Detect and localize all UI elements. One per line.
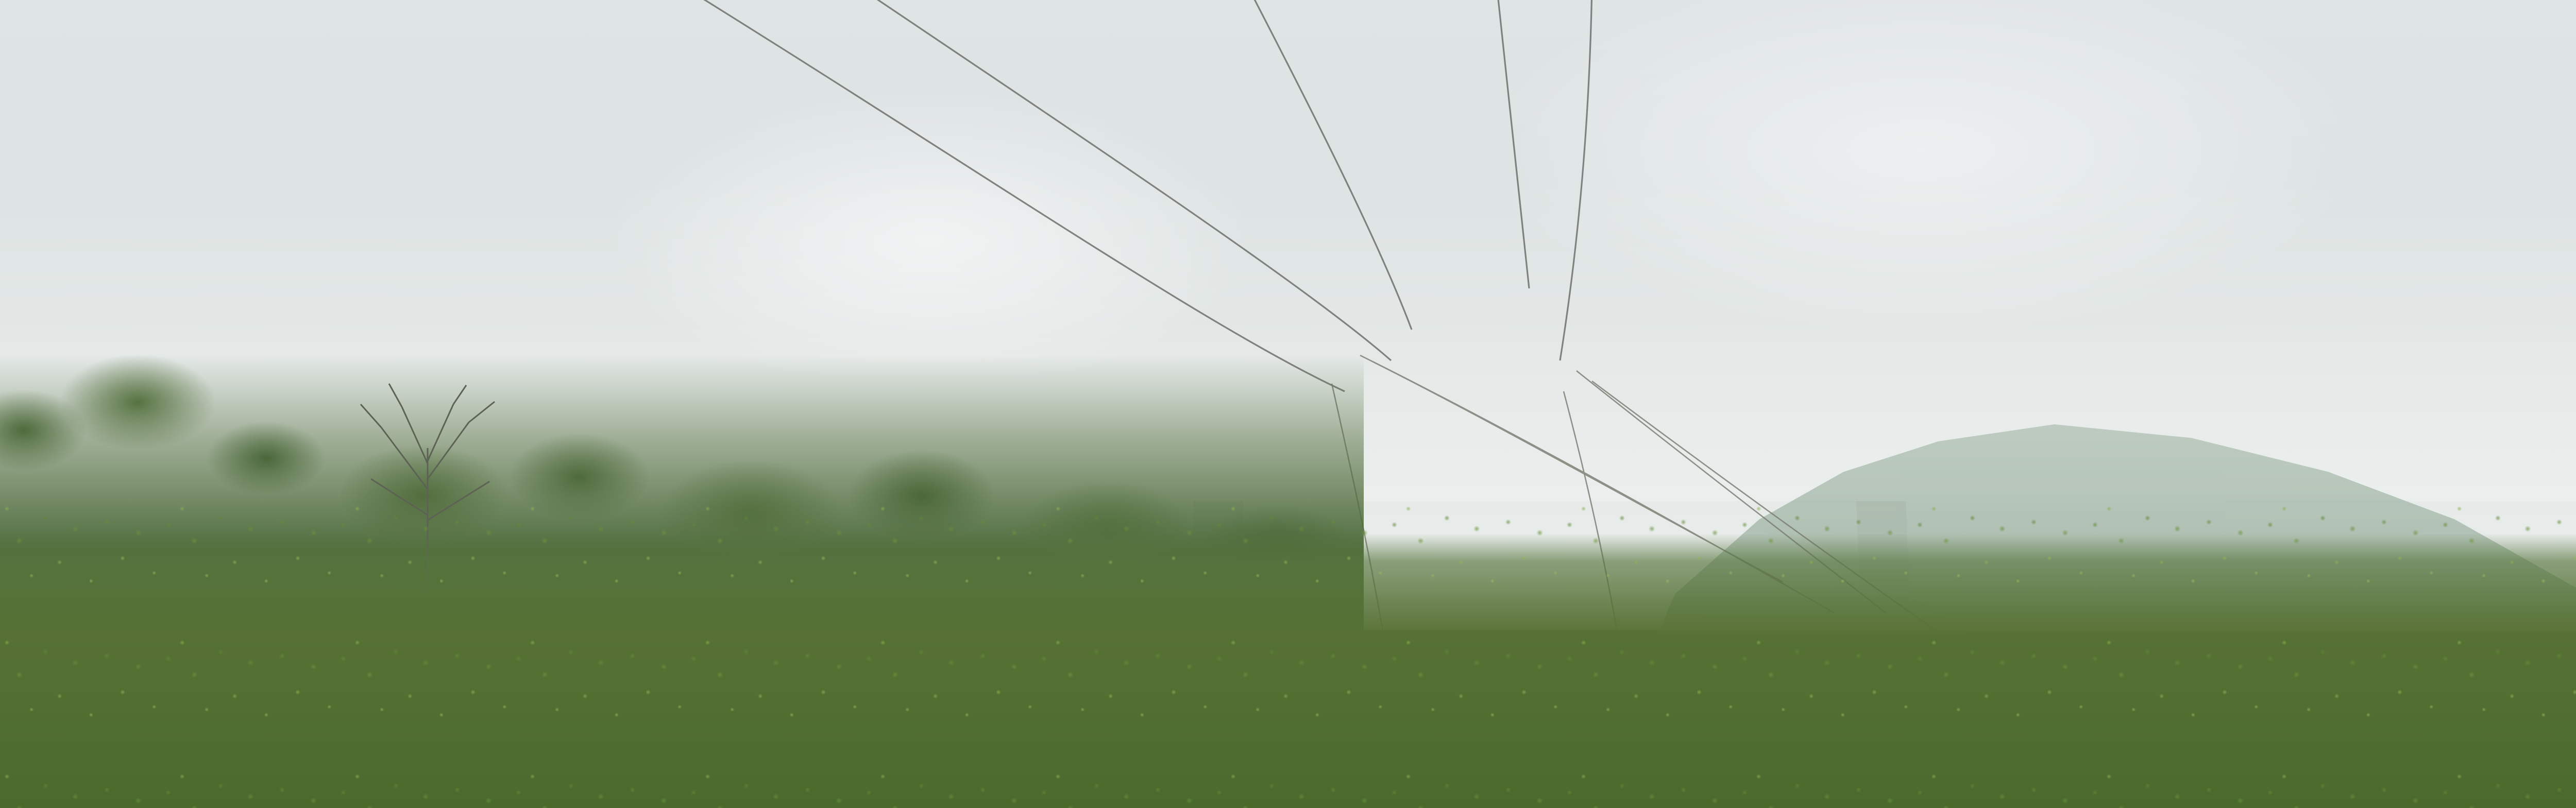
dense-forest-foreground-texture xyxy=(0,485,2576,808)
vision-banner: 成为世界一流、国内领先的 以输变电业务为主的综合性“百年好企” To becom… xyxy=(0,0,2576,808)
